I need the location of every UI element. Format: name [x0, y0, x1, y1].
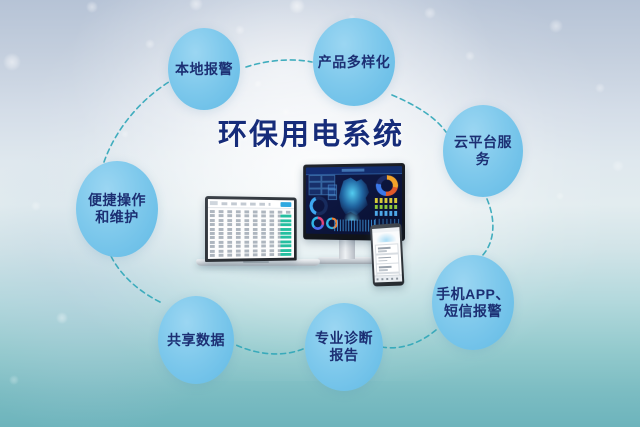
laptop-status-cell — [280, 240, 291, 243]
laptop-status-cell — [280, 236, 291, 239]
phone-hero-chart — [376, 232, 396, 242]
laptop-trackpad-notch — [243, 261, 269, 263]
laptop-status-cell — [280, 249, 291, 252]
dashboard-list-item — [328, 195, 336, 200]
app-logo — [210, 201, 218, 205]
laptop — [205, 196, 297, 262]
laptop-status-cell — [280, 223, 291, 226]
dashboard-donut-chart — [311, 216, 324, 229]
laptop-status-cell — [280, 244, 291, 247]
app-menu-tabs — [222, 202, 271, 206]
laptop-status-cell — [280, 219, 291, 222]
dashboard-stat-card — [309, 182, 322, 189]
laptop-screen — [208, 199, 294, 259]
laptop-app-header — [208, 199, 294, 209]
phone-bottom-nav — [374, 274, 402, 282]
app-action-badge — [280, 202, 291, 207]
smartphone — [370, 223, 404, 287]
laptop-table-row — [210, 210, 292, 214]
dashboard-stat-card — [309, 189, 322, 196]
laptop-status-cell — [280, 228, 291, 231]
phone-screen — [372, 227, 402, 282]
device-mockup-group — [0, 0, 640, 427]
monitor-neck — [339, 239, 355, 259]
dashboard-gauge-chart — [310, 197, 329, 216]
laptop-status-cell — [280, 253, 291, 256]
dashboard-title-bar — [306, 166, 402, 175]
dashboard-data-panel — [375, 205, 399, 210]
laptop-status-cell — [280, 232, 291, 235]
dashboard-data-panel — [375, 211, 399, 216]
dashboard-radial-chart — [376, 175, 398, 196]
poster-canvas: 本地报警产品多样化云平台服务手机APP、短信报警专业诊断报告共享数据便捷操作和维… — [0, 0, 640, 427]
page-title: 环保用电系统 — [218, 111, 404, 153]
dashboard-data-panel — [375, 198, 399, 203]
laptop-status-cell — [280, 215, 291, 218]
